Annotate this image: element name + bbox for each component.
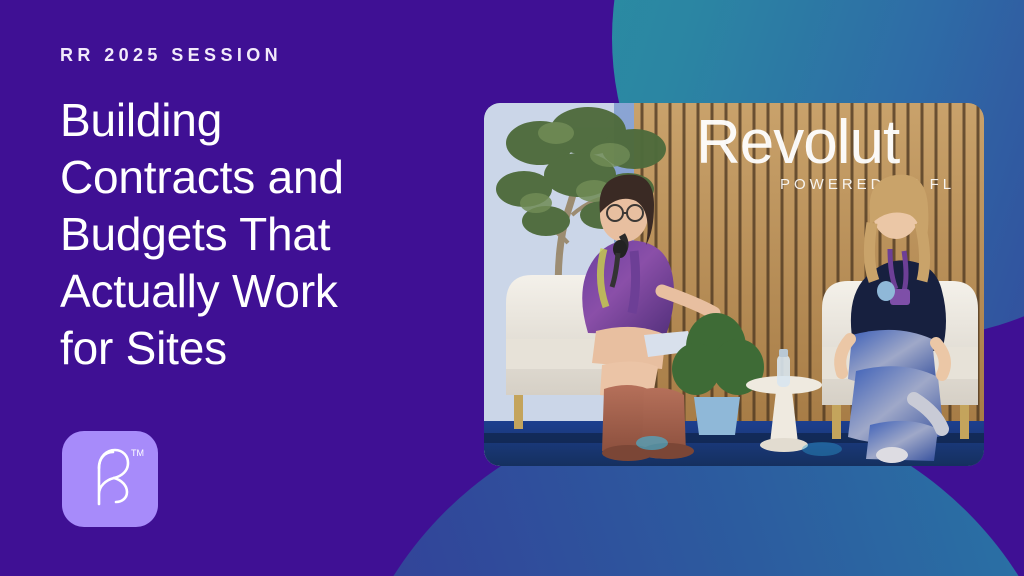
session-photo: Revolut POWERED BY FL [484,103,984,466]
session-eyebrow: RR 2025 SESSION [60,46,460,64]
slide-canvas: RR 2025 SESSION Building Contracts and B… [0,0,1024,576]
stage-signage-primary: Revolut [696,108,900,177]
session-photo-image: Revolut POWERED BY FL [484,103,984,466]
logo-tile: TM [62,431,158,527]
text-column: RR 2025 SESSION Building Contracts and B… [60,46,460,377]
stage-signage-secondary: POWERED BY FL [780,176,955,193]
rr-monogram-icon: TM [73,442,147,516]
trademark-mark: TM [131,448,144,458]
page-title: Building Contracts and Budgets That Actu… [60,92,400,377]
